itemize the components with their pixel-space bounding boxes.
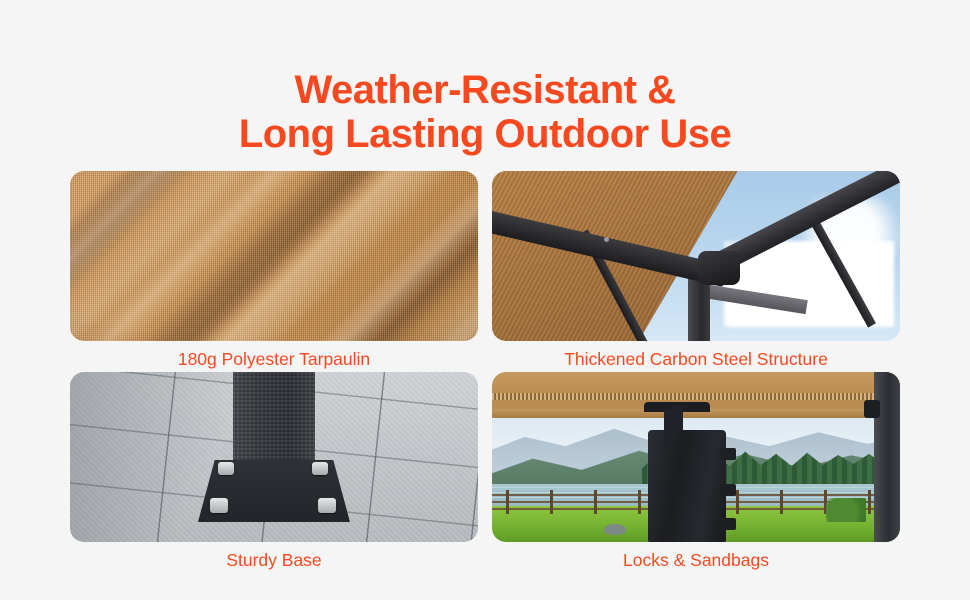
feature-grid: 180g Polyester Tarpaulin Thickened Carbo… [70,171,900,542]
feature-card-carbon-steel: Thickened Carbon Steel Structure [492,171,900,371]
feature-card-sturdy-base: Sturdy Base [70,372,478,572]
base-bolt [318,498,336,513]
fence-post [594,490,597,514]
tarpaulin-fabric-photo [70,171,478,341]
base-bolt [312,462,328,475]
feature-card-locks-sandbags: Locks & Sandbags [492,372,900,572]
carbon-steel-frame-photo [492,171,900,341]
page-title-line-2: Long Lasting Outdoor Use [0,112,970,156]
base-bolt [210,498,228,513]
sandbag-tab [720,448,736,460]
sturdy-base-photo [70,372,478,542]
base-bolt [218,462,234,475]
feature-caption-tarpaulin: 180g Polyester Tarpaulin [70,347,478,371]
fence-post [550,490,553,514]
sandbag-tab [720,518,736,530]
shrub [826,498,866,522]
photo-vignette [70,171,478,341]
frame-corner-joint [698,251,740,285]
feature-caption-carbon-steel: Thickened Carbon Steel Structure [492,347,900,371]
fence-post [736,490,739,514]
page-title: Weather-Resistant & Long Lasting Outdoor… [0,68,970,156]
fence-post [780,490,783,514]
field-rock [604,524,626,535]
feature-caption-locks-sandbags: Locks & Sandbags [492,548,900,572]
feature-card-tarpaulin: 180g Polyester Tarpaulin [70,171,478,371]
fence-post [506,490,509,514]
sandbag [648,430,726,542]
locks-sandbags-photo [492,372,900,542]
feature-caption-sturdy-base: Sturdy Base [70,548,478,572]
frame-bolt [604,237,609,242]
sandbag-tab [720,484,736,496]
lock-icon [864,400,880,418]
gazebo-corner-post [874,372,900,542]
fence-post [868,490,871,514]
fence-post [638,490,641,514]
page-title-line-1: Weather-Resistant & [295,68,676,112]
